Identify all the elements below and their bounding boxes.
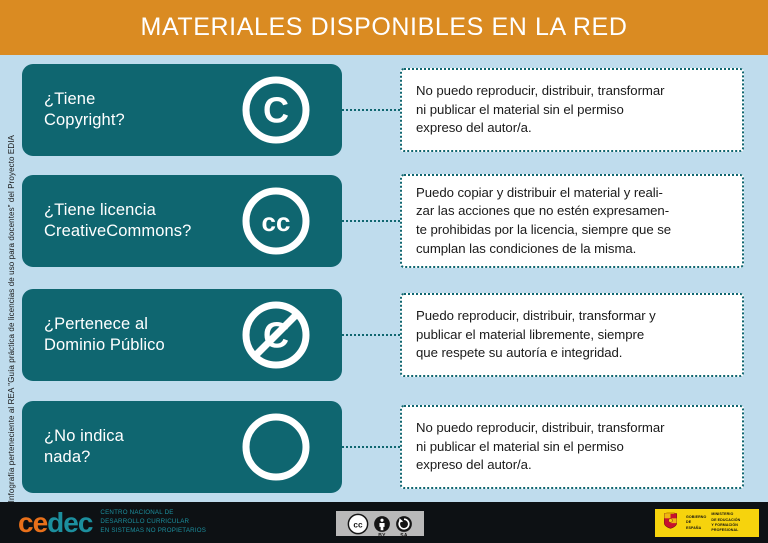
row-creative-commons: ¿Tiene licencia CreativeCommons? cc Pued… — [22, 175, 768, 267]
side-caption-text: Infografía perteneciente al REA "Guía pr… — [7, 133, 16, 502]
side-caption: Infografía perteneciente al REA "Guía pr… — [1, 56, 21, 502]
answer-line-4: cumplan las condiciones de la misma. — [416, 241, 636, 256]
cc-license-badge[interactable]: cc BY SA — [336, 511, 424, 536]
cc-logo-icon: cc — [347, 513, 369, 535]
copyright-icon: C — [237, 71, 315, 149]
public-domain-icon: C — [237, 296, 315, 374]
answer-box-public-domain: Puedo reproducir, distribuir, transforma… — [400, 293, 744, 377]
question-card-copyright[interactable]: ¿Tiene Copyright? C — [22, 64, 342, 156]
cedec-logo-part2: dec — [47, 507, 92, 538]
question-text-copyright: ¿Tiene Copyright? — [22, 89, 237, 131]
row-copyright: ¿Tiene Copyright? C No puedo reproducir,… — [22, 64, 768, 156]
question-line-1: ¿Tiene — [44, 90, 95, 108]
question-line-2: Copyright? — [44, 111, 125, 129]
answer-line-3: te prohibidas por la licencia, siempre q… — [416, 222, 671, 237]
question-text-public-domain: ¿Pertenece al Dominio Público — [22, 314, 237, 356]
answer-text-creative-commons: Puedo copiar y distribuir el material y … — [416, 184, 671, 259]
svg-text:cc: cc — [262, 207, 291, 237]
answer-text-public-domain: Puedo reproducir, distribuir, transforma… — [416, 307, 656, 363]
answer-line-2: ni publicar el material sin el permiso — [416, 102, 624, 117]
cc-sa-label: SA — [400, 533, 408, 539]
question-card-public-domain[interactable]: ¿Pertenece al Dominio Público C — [22, 289, 342, 381]
cedec-tagline-line2: DESARROLLO CURRICULAR — [100, 518, 206, 527]
cc-by-label: BY — [378, 533, 386, 539]
answer-line-3: que respete su autoría e integridad. — [416, 345, 622, 360]
answer-text-no-indication: No puedo reproducir, distribuir, transfo… — [416, 419, 664, 475]
cedec-logo-part1: ce — [18, 507, 47, 538]
creative-commons-icon: cc — [237, 182, 315, 260]
gobierno-de-espana-banner: GOBIERNO DE ESPAÑA MINISTERIO DE EDUCACI… — [655, 509, 759, 537]
svg-text:C: C — [263, 90, 289, 131]
cedec-tagline-line1: CENTRO NACIONAL DE — [100, 509, 206, 518]
answer-line-1: Puedo reproducir, distribuir, transforma… — [416, 308, 656, 323]
row-public-domain: ¿Pertenece al Dominio Público C Puedo re… — [22, 289, 768, 381]
cedec-tagline: CENTRO NACIONAL DE DESARROLLO CURRICULAR… — [100, 509, 206, 535]
connector-line-4 — [342, 446, 400, 448]
row-no-indication: ¿No indica nada? No puedo reproducir, di… — [22, 401, 768, 493]
answer-text-copyright: No puedo reproducir, distribuir, transfo… — [416, 82, 664, 138]
ministerio-line-3: Y FORMACIÓN PROFESIONAL — [711, 523, 759, 534]
cc-by-icon: BY — [373, 515, 391, 533]
answer-line-3: expreso del autor/a. — [416, 457, 532, 472]
question-text-creative-commons: ¿Tiene licencia CreativeCommons? — [22, 200, 237, 242]
answer-line-2: zar las acciones que no estén expresamen… — [416, 203, 669, 218]
cedec-logo[interactable]: cedec CENTRO NACIONAL DE DESARROLLO CURR… — [18, 509, 206, 537]
question-line-2: nada? — [44, 448, 90, 466]
question-card-creative-commons[interactable]: ¿Tiene licencia CreativeCommons? cc — [22, 175, 342, 267]
question-line-2: CreativeCommons? — [44, 222, 191, 240]
cedec-tagline-line3: EN SISTEMAS NO PROPIETARIOS — [100, 527, 206, 536]
answer-line-2: ni publicar el material sin el permiso — [416, 439, 624, 454]
answer-line-1: No puedo reproducir, distribuir, transfo… — [416, 83, 664, 98]
answer-box-creative-commons: Puedo copiar y distribuir el material y … — [400, 174, 744, 269]
answer-box-copyright: No puedo reproducir, distribuir, transfo… — [400, 68, 744, 152]
question-line-1: ¿Tiene licencia — [44, 201, 156, 219]
question-line-2: Dominio Público — [44, 336, 165, 354]
answer-line-2: publicar el material libremente, siempre — [416, 327, 644, 342]
content-area: ¿Tiene Copyright? C No puedo reproducir,… — [22, 56, 768, 502]
infographic-root: MATERIALES DISPONIBLES EN LA RED Infogra… — [0, 0, 768, 543]
connector-line-1 — [342, 109, 400, 111]
question-line-1: ¿Pertenece al — [44, 315, 148, 333]
answer-line-1: Puedo copiar y distribuir el material y … — [416, 185, 663, 200]
answer-box-no-indication: No puedo reproducir, distribuir, transfo… — [400, 405, 744, 489]
cedec-wordmark: cedec — [18, 509, 92, 537]
header-bar: MATERIALES DISPONIBLES EN LA RED — [0, 0, 768, 55]
question-text-no-indication: ¿No indica nada? — [22, 426, 237, 468]
page-title: MATERIALES DISPONIBLES EN LA RED — [141, 13, 628, 42]
svg-text:cc: cc — [353, 520, 363, 529]
empty-circle-icon — [237, 408, 315, 486]
question-line-1: ¿No indica — [44, 427, 124, 445]
cc-sa-icon: SA — [395, 515, 413, 533]
gobierno-label: GOBIERNO DE ESPAÑA — [686, 515, 706, 531]
gobierno-line-2: DE ESPAÑA — [686, 520, 706, 531]
connector-line-3 — [342, 334, 400, 336]
answer-line-1: No puedo reproducir, distribuir, transfo… — [416, 420, 664, 435]
connector-line-2 — [342, 220, 400, 222]
ministerio-label: MINISTERIO DE EDUCACIÓN Y FORMACIÓN PROF… — [711, 512, 759, 534]
question-card-no-indication[interactable]: ¿No indica nada? — [22, 401, 342, 493]
spain-coat-of-arms-icon — [660, 510, 681, 536]
answer-line-3: expreso del autor/a. — [416, 120, 532, 135]
